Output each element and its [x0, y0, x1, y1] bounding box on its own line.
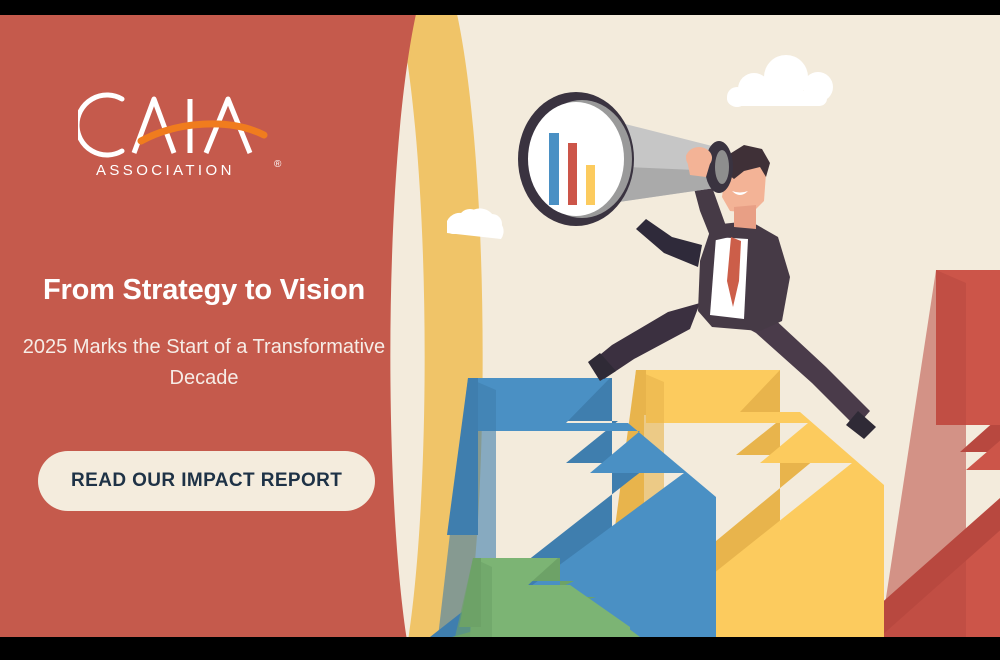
letterbox-bottom — [0, 637, 1000, 660]
read-impact-report-button[interactable]: READ OUR IMPACT REPORT — [38, 451, 375, 511]
marketing-banner: ASSOCIATION ® From Strategy to Vision 20… — [0, 15, 1000, 637]
neck — [734, 205, 756, 229]
page-subtitle: 2025 Marks the Start of a Transformative… — [20, 332, 388, 394]
lens-bar-3 — [586, 165, 595, 205]
page-title: From Strategy to Vision — [14, 274, 394, 307]
logo-subtext: ASSOCIATION — [96, 162, 235, 179]
logo-trademark: ® — [274, 159, 282, 170]
banner-stage: ASSOCIATION ® From Strategy to Vision 20… — [0, 0, 1000, 660]
caia-logo[interactable]: ASSOCIATION ® — [78, 87, 308, 182]
letterbox-top — [0, 0, 1000, 15]
lens-bar-1 — [549, 133, 559, 205]
lens-bar-2 — [568, 143, 577, 205]
caia-logo-mark: ASSOCIATION ® — [78, 87, 308, 182]
content-column: ASSOCIATION ® From Strategy to Vision 20… — [0, 15, 395, 637]
